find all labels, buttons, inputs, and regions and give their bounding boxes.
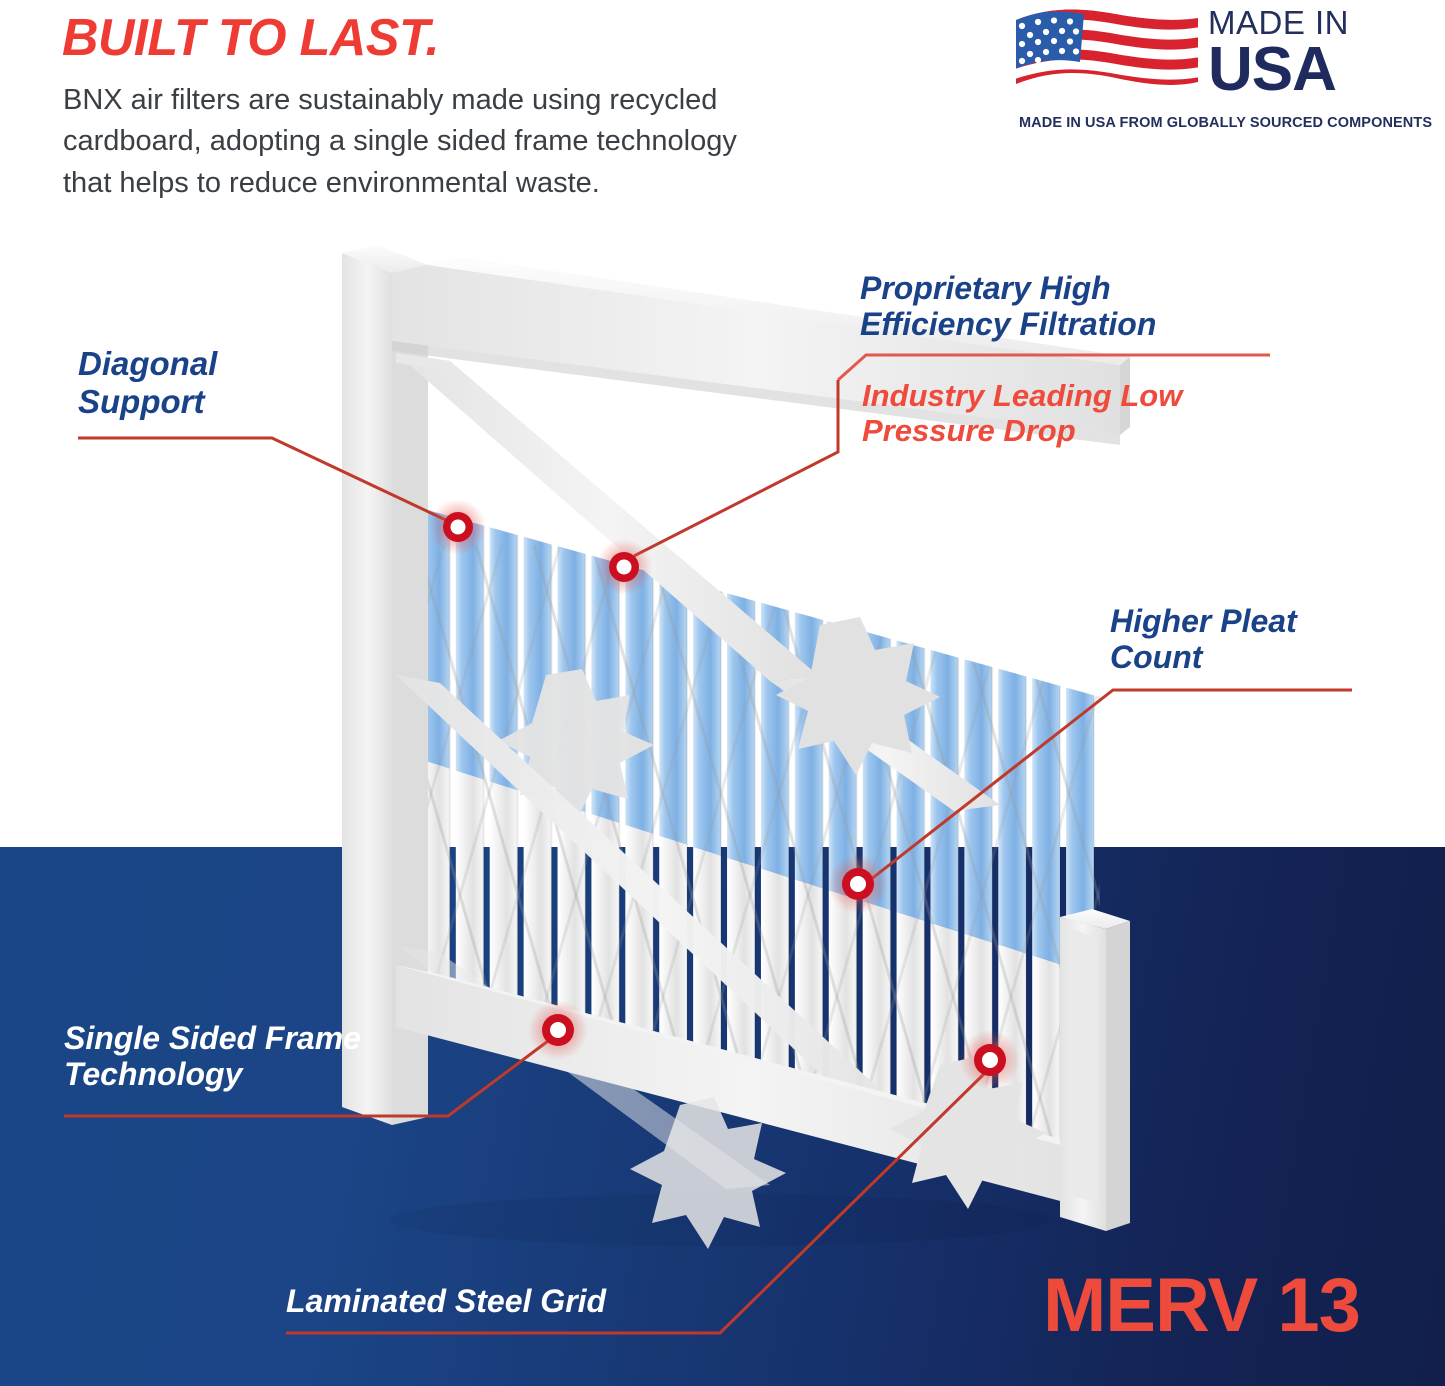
callout-low-pressure-drop-line-1: Industry Leading Low [862,378,1182,413]
callout-higher-pleat-count-line-2: Count [1110,639,1297,675]
intro-line-1: BNX air filters are sustainably made usi… [63,80,853,121]
callout-laminated-steel-grid-line-1: Laminated Steel Grid [286,1283,606,1319]
callout-single-sided-frame-line-2: Technology [64,1056,361,1092]
intro-paragraph: BNX air filters are sustainably made usi… [63,80,853,204]
callout-proprietary-filtration: Proprietary High Efficiency Filtration [860,270,1156,343]
callout-diagonal-support: Diagonal Support [78,345,217,420]
intro-line-2: cardboard, adopting a single sided frame… [63,121,853,162]
usa-flag-icon [1012,4,1200,108]
callout-single-sided-frame: Single Sided Frame Technology [64,1020,361,1093]
made-in-usa-badge: MADE IN USA MADE IN USA FROM GLOBALLY SO… [1012,2,1402,134]
usa-badge-usa: USA [1208,41,1349,98]
infographic-canvas: BUILT TO LAST. BNX air filters are susta… [0,0,1445,1386]
usa-badge-tagline: MADE IN USA FROM GLOBALLY SOURCED COMPON… [1019,115,1432,131]
callout-higher-pleat-count: Higher Pleat Count [1110,603,1297,676]
callout-laminated-steel-grid: Laminated Steel Grid [286,1283,606,1319]
callout-proprietary-filtration-line-1: Proprietary High [860,270,1156,306]
callout-higher-pleat-count-line-1: Higher Pleat [1110,603,1297,639]
page-title: BUILT TO LAST. [62,8,439,68]
callout-low-pressure-drop: Industry Leading Low Pressure Drop [862,378,1182,449]
callout-low-pressure-drop-line-2: Pressure Drop [862,413,1182,448]
callout-proprietary-filtration-line-2: Efficiency Filtration [860,306,1156,342]
callout-single-sided-frame-line-1: Single Sided Frame [64,1020,361,1056]
merv-rating-badge: MERV 13 [1043,1268,1360,1344]
intro-line-3: that helps to reduce environmental waste… [63,163,853,204]
callout-diagonal-support-line-1: Diagonal [78,345,217,383]
usa-badge-text: MADE IN USA [1208,2,1349,98]
callout-diagonal-support-line-2: Support [78,383,217,421]
